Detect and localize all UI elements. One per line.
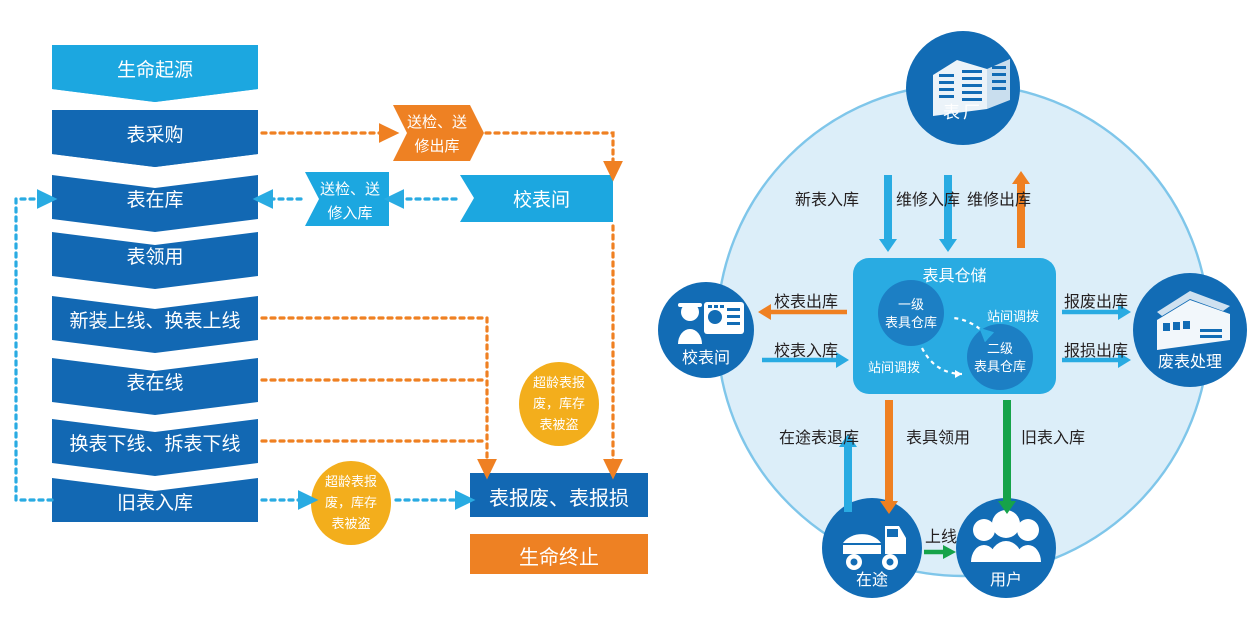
node-calibration-label[interactable]: 校表间	[666, 344, 746, 368]
flow-label-6-text: 报损出库	[1064, 341, 1128, 360]
node-songjian-chuku-line2: 修出库	[401, 134, 473, 158]
bubble-2-line2: 废，库存	[311, 493, 391, 514]
node-calibration-text: 校表间	[682, 344, 730, 368]
flow-step-2-label: 表在库	[126, 185, 183, 212]
flow-label-meter-issue: 表具领用	[906, 424, 970, 448]
transfer-label-1: 站间调拨	[987, 306, 1039, 325]
central-storage-title-label: 表具仓储	[922, 262, 986, 286]
flow-step-1[interactable]: 表采购	[52, 118, 258, 148]
node-scrap-text: 废表处理	[1158, 348, 1222, 372]
flow-label-4-text: 校表入库	[774, 341, 838, 360]
flow-label-7-text: 在途表退库	[779, 428, 859, 447]
node-songjian-ruku-line1: 送检、送	[314, 177, 386, 201]
conn-songjian-to-jiaobiaojian	[486, 133, 613, 168]
flow-label-8-text: 表具领用	[906, 428, 970, 447]
flow-step-4[interactable]: 新装上线、换表上线	[52, 304, 258, 334]
flow-step-0[interactable]: 生命起源	[52, 53, 258, 83]
bubble-scrap-2-text: 超龄表报 废，库存 表被盗	[311, 472, 391, 535]
conn-online-install-to-baofei	[262, 318, 487, 466]
bubble-1-line2: 废，库存	[519, 394, 599, 415]
flow-step-1-label: 表采购	[126, 120, 183, 147]
node-jiaobiaojian[interactable]: 校表间	[470, 183, 613, 213]
transfer-label-2-text: 站间调拨	[868, 361, 920, 376]
flow-step-3[interactable]: 表领用	[52, 240, 258, 270]
node-songjian-chuku-line1: 送检、送	[401, 110, 473, 134]
flow-label-calib-out: 校表出库	[774, 288, 838, 312]
flow-label-5-text: 报废出库	[1064, 292, 1128, 311]
flow-label-old-meter-in: 旧表入库	[1021, 424, 1085, 448]
node-user-label[interactable]: 用户	[966, 566, 1046, 590]
node-factory-label[interactable]: 表厂	[923, 98, 1003, 122]
node-scrap-label[interactable]: 废表处理	[1145, 348, 1235, 372]
node-shengmingzhongzhi-label: 生命终止	[519, 541, 599, 570]
node-songjian-ruku-line2: 修入库	[314, 201, 386, 225]
flow-step-2[interactable]: 表在库	[52, 183, 258, 213]
node-factory-text: 表厂	[943, 98, 983, 123]
flow-step-6-label: 换表下线、拆表下线	[69, 429, 240, 456]
node-songjian-chuku[interactable]: 送检、送 修出库	[401, 110, 473, 158]
bubble-scrap-1-text: 超龄表报 废，库存 表被盗	[519, 373, 599, 436]
flow-label-online: 上线	[925, 523, 957, 547]
store-level-2-text: 二级 表具仓库	[962, 341, 1038, 377]
store-2-line2: 表具仓库	[962, 359, 1038, 377]
flow-label-9-text: 旧表入库	[1021, 428, 1085, 447]
conn-oldmeter-return-to-stock	[16, 199, 52, 500]
flow-step-7-label: 旧表入库	[117, 488, 193, 515]
node-baofei-label: 表报废、表报损	[489, 482, 629, 511]
flow-step-6[interactable]: 换表下线、拆表下线	[52, 427, 258, 457]
flow-step-5[interactable]: 表在线	[52, 366, 258, 396]
flow-step-0-label: 生命起源	[117, 55, 193, 82]
node-songjian-ruku[interactable]: 送检、送 修入库	[314, 177, 386, 225]
transfer-label-1-text: 站间调拨	[987, 310, 1039, 325]
store-1-line1: 一级	[873, 297, 949, 315]
flow-label-2-text: 维修出库	[967, 190, 1031, 209]
bubble-2-line3: 表被盗	[311, 514, 391, 535]
flow-label-calib-in: 校表入库	[774, 337, 838, 361]
flow-label-loss-out: 报损出库	[1064, 337, 1128, 361]
flow-label-new-meter-in: 新表入库	[795, 186, 859, 210]
store-level-1-text: 一级 表具仓库	[873, 297, 949, 333]
store-2-line1: 二级	[962, 341, 1038, 359]
flow-step-7[interactable]: 旧表入库	[52, 486, 258, 516]
node-jiaobiaojian-label: 校表间	[513, 185, 570, 212]
store-1-line2: 表具仓库	[873, 315, 949, 333]
node-shengmingzhongzhi[interactable]: 生命终止	[470, 541, 648, 569]
diagram-canvas: 生命起源 表采购 表在库 表领用 新装上线、换表上线 表在线 换表下线、拆表下线…	[0, 0, 1255, 639]
node-transit-text: 在途	[856, 566, 888, 590]
central-storage-title: 表具仓储	[853, 262, 1056, 286]
flow-step-4-label: 新装上线、换表上线	[69, 306, 240, 333]
node-baofei[interactable]: 表报废、表报损	[470, 481, 648, 511]
flow-step-3-label: 表领用	[126, 242, 183, 269]
flow-label-3-text: 校表出库	[774, 292, 838, 311]
flow-label-1-text: 维修入库	[896, 190, 960, 209]
flow-label-scrap-out: 报废出库	[1064, 288, 1128, 312]
flow-label-repair-out: 维修出库	[967, 186, 1031, 210]
flow-label-repair-in: 维修入库	[896, 186, 960, 210]
transfer-label-2: 站间调拨	[868, 357, 920, 376]
flow-step-5-label: 表在线	[126, 368, 183, 395]
flow-label-10-text: 上线	[925, 527, 957, 546]
node-user-text: 用户	[990, 566, 1022, 590]
bubble-1-line3: 表被盗	[519, 415, 599, 436]
flow-label-transit-return: 在途表退库	[779, 424, 859, 448]
node-transit-label[interactable]: 在途	[832, 566, 912, 590]
bubble-1-line1: 超龄表报	[519, 373, 599, 394]
flow-label-0-text: 新表入库	[795, 190, 859, 209]
bubble-2-line1: 超龄表报	[311, 472, 391, 493]
